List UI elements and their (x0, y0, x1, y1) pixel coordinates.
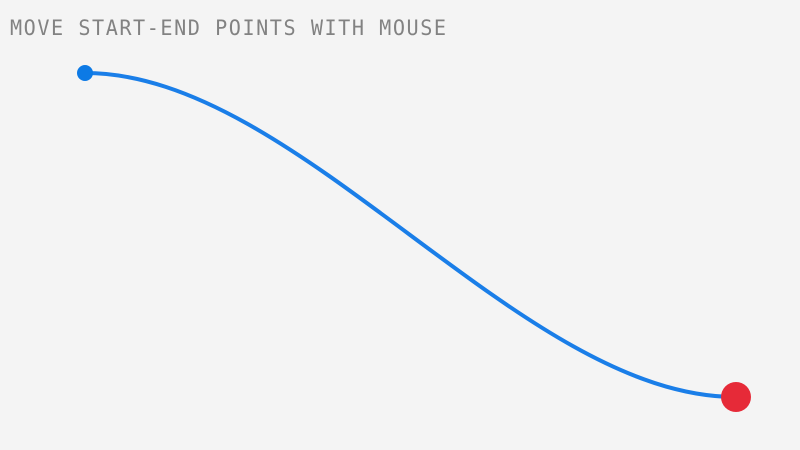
start-point-handle[interactable] (77, 65, 93, 81)
bezier-stage[interactable] (0, 0, 800, 450)
bezier-curve-path (85, 73, 736, 397)
bezier-editor-canvas[interactable]: MOVE START-END POINTS WITH MOUSE (0, 0, 800, 450)
bezier-svg[interactable] (0, 0, 800, 450)
end-point-handle[interactable] (721, 382, 751, 412)
